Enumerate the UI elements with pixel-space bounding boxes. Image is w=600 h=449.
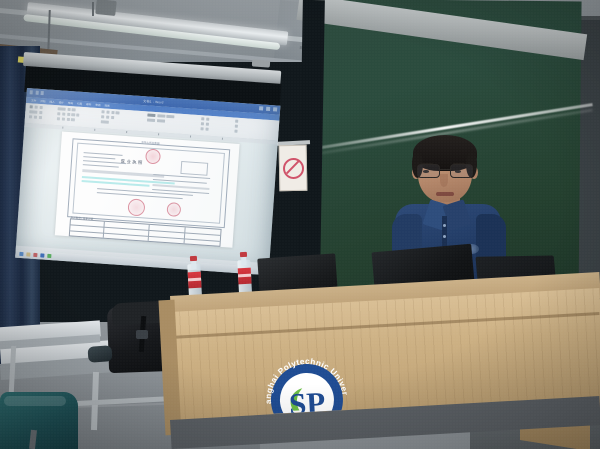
classroom-photo: 文档1 - Word 文件 开始 插入 设计 布局 引用 邮件 审阅 视图 — [0, 0, 600, 449]
chair-highlight — [4, 396, 66, 406]
tab-view[interactable]: 视图 — [104, 103, 109, 107]
projection-screen-surface: 文档1 - Word 文件 开始 插入 设计 布局 引用 邮件 审阅 视图 — [15, 88, 280, 275]
university-logo: Shanghai Polytechnic University SP — [260, 350, 351, 415]
tab-references[interactable]: 引用 — [77, 102, 82, 106]
word-document-page[interactable]: 中华人民共和国 营业执照 登记事项 / 变更记录 — [55, 132, 240, 248]
instructor-nose — [440, 174, 448, 187]
ribbon-group-paragraph[interactable] — [101, 110, 119, 124]
backpack-buckle — [136, 330, 148, 339]
water-bottle — [237, 252, 252, 297]
ribbon-group-styles[interactable] — [147, 113, 175, 123]
wechat-icon[interactable] — [47, 254, 51, 258]
shirt-button — [443, 235, 446, 238]
pouch — [87, 345, 112, 363]
logo-svg: Shanghai Polytechnic University SP — [260, 350, 351, 415]
screen-roller-cap — [252, 59, 270, 67]
tab-mailings[interactable]: 邮件 — [86, 102, 91, 106]
instructor-mouth — [436, 192, 454, 196]
explorer-icon[interactable] — [26, 252, 30, 256]
tab-file[interactable]: 文件 — [31, 98, 36, 102]
word-title-text: 文档1 - Word — [143, 98, 164, 104]
svg-text:SP: SP — [288, 385, 326, 414]
certificate-qr-box — [180, 161, 208, 176]
tab-insert[interactable]: 插入 — [49, 100, 54, 104]
ribbon-group-font[interactable] — [57, 107, 80, 121]
word-icon[interactable] — [40, 253, 44, 257]
ribbon-group-editing[interactable] — [200, 117, 209, 130]
ribbon-group-extra[interactable] — [234, 120, 238, 133]
no-smoking-icon — [279, 145, 308, 191]
tab-design[interactable]: 设计 — [59, 100, 64, 104]
window-buttons[interactable] — [259, 106, 277, 111]
light-mount — [95, 0, 116, 16]
shirt-button — [443, 224, 446, 227]
tab-home[interactable]: 开始 — [40, 99, 45, 103]
ribbon-group-clipboard[interactable] — [29, 105, 43, 119]
start-icon[interactable] — [19, 252, 23, 256]
tab-layout[interactable]: 布局 — [68, 101, 73, 105]
quick-access-toolbar[interactable] — [30, 90, 44, 95]
tab-review[interactable]: 审阅 — [95, 103, 100, 107]
hanger-rod — [92, 2, 94, 16]
browser-icon[interactable] — [33, 253, 37, 257]
